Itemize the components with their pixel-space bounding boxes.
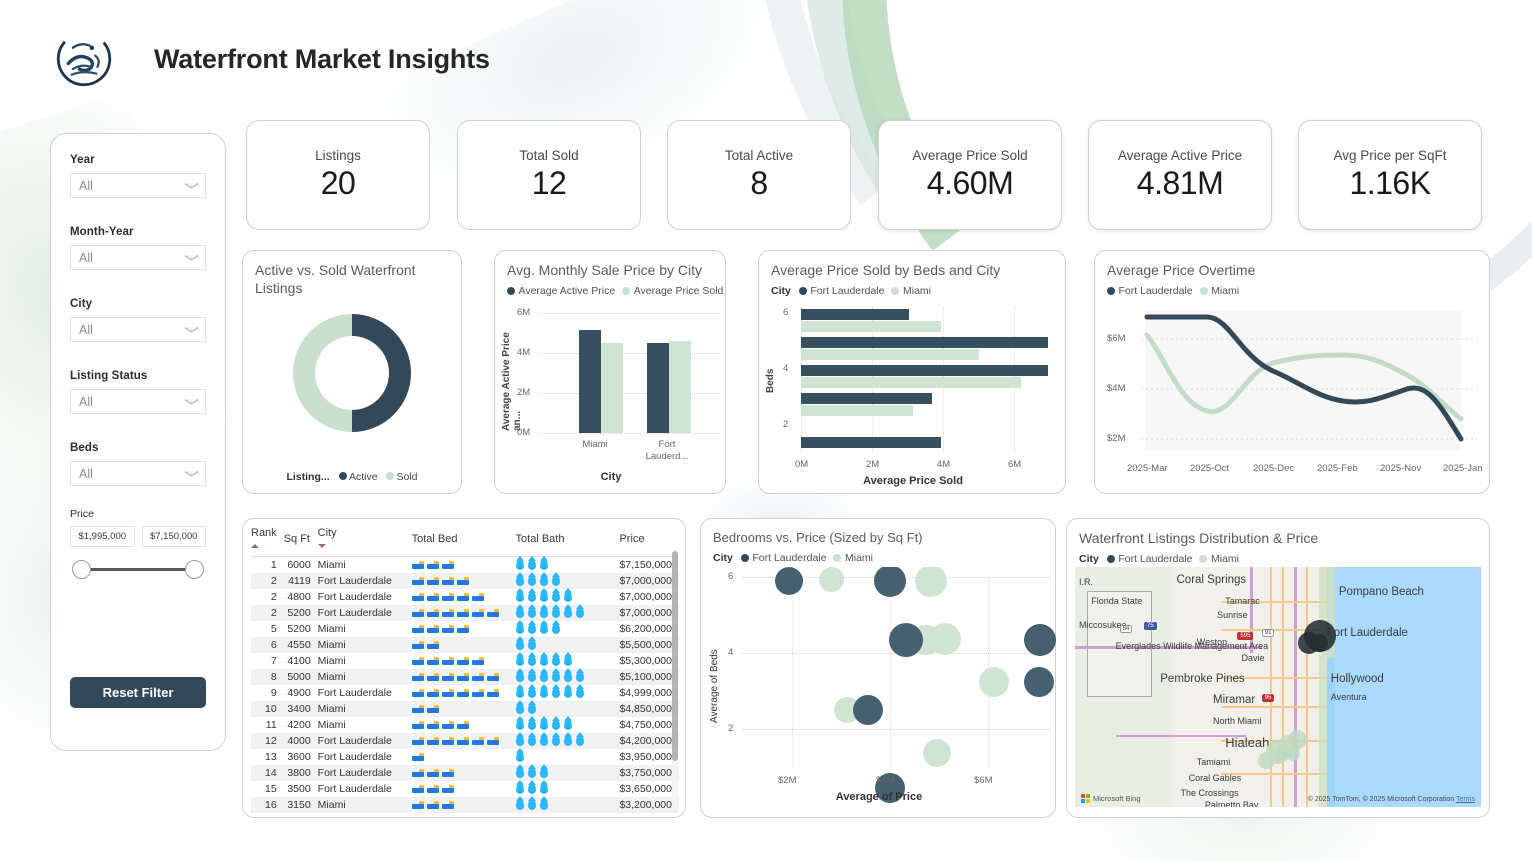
- cell-city: Miami: [318, 717, 412, 733]
- scatter-chart-ylabel: Average of Beds: [709, 613, 720, 723]
- cell-city: Miami: [318, 669, 412, 685]
- bath-drop-icon: [540, 687, 548, 698]
- legend-swatch-ftl-icon: [799, 287, 807, 295]
- cell-price: $4,999,000: [619, 685, 679, 701]
- filter-listing-status[interactable]: Listing Status All: [70, 370, 206, 414]
- cell-rank: 2: [251, 605, 284, 621]
- cell-city: Fort Lauderdale: [318, 589, 412, 605]
- table-row[interactable]: 94900Fort Lauderdale$4,999,000: [251, 685, 679, 701]
- hbar-6-ftl[interactable]: [801, 309, 909, 320]
- map-card[interactable]: Waterfront Listings Distribution & Price…: [1066, 518, 1490, 818]
- table-row[interactable]: 143800Fort Lauderdale$3,750,000: [251, 765, 679, 781]
- bed-icon: [442, 769, 454, 777]
- cell-total-bath: [516, 589, 620, 605]
- bath-drop-icon: [540, 735, 548, 746]
- table-row[interactable]: 24119Fort Lauderdale$7,000,000: [251, 573, 679, 589]
- bath-drop-icon: [552, 671, 560, 682]
- kpi-card-listings[interactable]: Listings 20: [246, 120, 430, 230]
- bed-icon: [427, 577, 439, 585]
- bath-drop-icon: [516, 735, 524, 746]
- bed-icon: [457, 657, 469, 665]
- listings-table-card[interactable]: Rank Sq Ft City Total Bed Total Bath Pri…: [242, 518, 686, 818]
- cell-total-bath: [516, 765, 620, 781]
- legend-swatch-active-price-icon: [507, 287, 515, 295]
- cell-rank: 2: [251, 589, 284, 605]
- map-label-hollywood: Hollywood: [1331, 673, 1384, 685]
- xtick-0m: 0M: [795, 459, 808, 470]
- bath-drop-icon: [516, 671, 524, 682]
- cell-total-bed: [412, 621, 516, 637]
- kpi-title: Avg Price per SqFt: [1333, 148, 1446, 163]
- bath-drop-icon: [564, 591, 572, 602]
- filter-listing-status-value: All: [79, 395, 93, 409]
- hbar-5-miami[interactable]: [801, 349, 979, 360]
- price-max-input[interactable]: $7,150,000: [142, 526, 207, 547]
- cell-rank: 11: [251, 717, 284, 733]
- bed-icon: [412, 705, 424, 713]
- bing-logo-text: Microsoft Bing: [1093, 794, 1141, 803]
- filter-city[interactable]: City All: [70, 298, 206, 342]
- filter-year-label: Year: [70, 154, 206, 166]
- cell-total-bath: [516, 605, 620, 621]
- map-label-coral-springs: Coral Springs: [1177, 574, 1247, 586]
- column-header-price[interactable]: Price: [619, 527, 679, 557]
- bed-icon: [412, 657, 424, 665]
- chevron-down-icon: [185, 182, 198, 190]
- bed-icon: [412, 737, 424, 745]
- map-label-sunrise: Sunrise: [1217, 610, 1248, 620]
- bed-icon: [457, 673, 469, 681]
- hbar-chart-title: Average Price Sold by Beds and City: [759, 251, 1065, 279]
- bed-icon: [472, 657, 484, 665]
- kpi-title: Total Sold: [519, 148, 578, 163]
- table-scrollbar[interactable]: [672, 549, 678, 805]
- cell-price: $5,300,000: [619, 653, 679, 669]
- bed-icon: [457, 577, 469, 585]
- bath-drop-icon: [516, 687, 524, 698]
- ytick-6: 6: [728, 571, 733, 582]
- filter-listing-status-label: Listing Status: [70, 370, 206, 382]
- cell-city: Fort Lauderdale: [318, 781, 412, 797]
- cell-total-bath: [516, 637, 620, 653]
- cell-city: Fort Lauderdale: [318, 733, 412, 749]
- cell-total-bath: [516, 685, 620, 701]
- table-row[interactable]: 114200Miami$4,750,000: [251, 717, 679, 733]
- kpi-title: Average Active Price: [1118, 148, 1242, 163]
- bubble-ftl-3[interactable]: [889, 623, 923, 657]
- column-header-total-bath[interactable]: Total Bath: [516, 527, 620, 557]
- bed-icon: [427, 705, 439, 713]
- reset-filter-button[interactable]: Reset Filter: [70, 677, 206, 708]
- sort-asc-icon: [251, 544, 259, 548]
- bed-icon: [427, 561, 439, 569]
- cell-sqft: 4800: [284, 589, 318, 605]
- kpi-card-total-active[interactable]: Total Active 8: [667, 120, 851, 230]
- donut-chart-title: Active vs. Sold Waterfront Listings: [243, 251, 461, 298]
- bed-icon: [412, 721, 424, 729]
- bar-ftl-sold[interactable]: [669, 341, 691, 433]
- bed-icon: [442, 577, 454, 585]
- cell-sqft: 4000: [284, 733, 318, 749]
- cell-total-bath: [516, 701, 620, 717]
- bath-drop-icon: [516, 623, 524, 634]
- table-row[interactable]: 24800Fort Lauderdale$7,000,000: [251, 589, 679, 605]
- cell-sqft: 6000: [284, 557, 318, 573]
- ytick-4m: 4M: [517, 347, 530, 358]
- cell-total-bed: [412, 557, 516, 573]
- map-label-pompano-beach: Pompano Beach: [1339, 586, 1424, 598]
- bubble-miami-1[interactable]: [819, 567, 844, 592]
- bed-icon: [412, 625, 424, 633]
- filter-month-year-value: All: [79, 251, 93, 265]
- xtick-3: 2025-Feb: [1317, 463, 1358, 474]
- bed-icon: [412, 577, 424, 585]
- price-min-input[interactable]: $1,995,000: [70, 526, 135, 547]
- bath-drop-icon: [528, 799, 536, 810]
- bath-drop-icon: [540, 575, 548, 586]
- cell-rank: 9: [251, 685, 284, 701]
- table-row[interactable]: 133600Fort Lauderdale$3,950,000: [251, 749, 679, 765]
- cell-total-bath: [516, 557, 620, 573]
- cell-price: $5,500,000: [619, 637, 679, 653]
- cell-total-bath: [516, 749, 620, 765]
- bed-icon: [487, 737, 499, 745]
- bubble-miami-2[interactable]: [915, 567, 947, 597]
- filter-year[interactable]: Year All: [70, 154, 206, 198]
- cell-city: Fort Lauderdale: [318, 749, 412, 765]
- cell-total-bath: [516, 621, 620, 637]
- bed-icon: [427, 721, 439, 729]
- bath-drop-icon: [516, 575, 524, 586]
- bath-drop-icon: [540, 623, 548, 634]
- xtick-1: 2025-Oct: [1190, 463, 1229, 474]
- map-label-coral-gables: Coral Gables: [1189, 773, 1242, 783]
- kpi-value: 20: [321, 165, 356, 202]
- cell-price: $3,200,000: [619, 797, 679, 813]
- cell-sqft: 4100: [284, 653, 318, 669]
- cell-price: $7,000,000: [619, 605, 679, 621]
- scatter-chart-card[interactable]: Bedrooms vs. Price (Sized by Sq Ft) City…: [700, 518, 1056, 818]
- scatter-legend-head: City: [713, 552, 733, 564]
- cell-total-bath: [516, 797, 620, 813]
- column-header-total-bed[interactable]: Total Bed: [412, 527, 516, 557]
- hbar-3-ftl[interactable]: [801, 393, 932, 404]
- bath-drop-icon: [564, 607, 572, 618]
- filter-year-dropdown[interactable]: All: [70, 173, 206, 198]
- bed-icon: [427, 673, 439, 681]
- dashboard-header: Waterfront Market Insights: [0, 0, 1532, 118]
- cell-total-bath: [516, 653, 620, 669]
- column-header-city[interactable]: City: [318, 527, 412, 557]
- cell-total-bath: [516, 717, 620, 733]
- scatter-chart-xlabel: Average of Price: [701, 791, 1057, 803]
- xtick-miami: Miami: [573, 439, 617, 450]
- column-header-sqft[interactable]: Sq Ft: [284, 527, 318, 557]
- cell-city: Miami: [318, 701, 412, 717]
- cell-total-bath: [516, 781, 620, 797]
- bath-drop-icon: [528, 639, 536, 650]
- bath-drop-icon: [540, 719, 548, 730]
- donut-legend-active: Active: [349, 471, 378, 483]
- cell-total-bed: [412, 573, 516, 589]
- cell-price: $6,200,000: [619, 621, 679, 637]
- table-row[interactable]: 64550Miami$5,500,000: [251, 637, 679, 653]
- kpi-card-average-active-price[interactable]: Average Active Price 4.81M: [1088, 120, 1272, 230]
- bed-icon: [442, 737, 454, 745]
- listings-table[interactable]: Rank Sq Ft City Total Bed Total Bath Pri…: [251, 527, 679, 813]
- hbar-3-miami[interactable]: [801, 405, 913, 416]
- map-label-hialeah: Hialeah: [1225, 735, 1269, 750]
- filter-month-year-dropdown[interactable]: All: [70, 245, 206, 270]
- sort-desc-icon: [318, 544, 326, 548]
- cell-total-bed: [412, 765, 516, 781]
- bath-drop-icon: [564, 719, 572, 730]
- bed-icon: [442, 721, 454, 729]
- kpi-value: 1.16K: [1349, 165, 1430, 202]
- column-chart-plot: Average Active Price an... 6M 4M 2M 0M M…: [495, 305, 727, 495]
- bed-icon: [442, 801, 454, 809]
- table-row[interactable]: 74100Miami$5,300,000: [251, 653, 679, 669]
- xtick-2: 2025-Dec: [1253, 463, 1294, 474]
- legend-swatch-active-icon: [339, 472, 347, 480]
- kpi-title: Average Price Sold: [912, 148, 1027, 163]
- chevron-down-icon: [185, 398, 198, 406]
- bath-drop-icon: [552, 719, 560, 730]
- filter-beds[interactable]: Beds All: [70, 442, 206, 486]
- filter-beds-dropdown[interactable]: All: [70, 461, 206, 486]
- donut-chart-graphic[interactable]: [293, 314, 411, 432]
- hbar-4-ftl[interactable]: [801, 365, 1048, 376]
- cell-price: $4,850,000: [619, 701, 679, 717]
- map-label-palmetto-bay: Palmetto Bay: [1205, 800, 1259, 807]
- bed-icon: [472, 673, 484, 681]
- donut-chart-card[interactable]: Active vs. Sold Waterfront Listings List…: [242, 250, 462, 494]
- cell-sqft: 3800: [284, 765, 318, 781]
- bed-icon: [412, 753, 424, 761]
- cell-price: $4,750,000: [619, 717, 679, 733]
- chevron-down-icon: [185, 254, 198, 262]
- bed-icon: [442, 561, 454, 569]
- bath-drop-icon: [516, 751, 524, 762]
- table-row[interactable]: 25200Fort Lauderdale$7,000,000: [251, 605, 679, 621]
- cell-rank: 6: [251, 637, 284, 653]
- map-bubble-miami-6[interactable]: [1286, 747, 1300, 761]
- cell-city: Miami: [318, 621, 412, 637]
- bed-icon: [442, 673, 454, 681]
- xtick-4m: $4M: [876, 775, 894, 786]
- hbar-5-ftl[interactable]: [801, 337, 1048, 348]
- xtick-2m: 2M: [866, 459, 879, 470]
- table-row[interactable]: 103400Miami$4,850,000: [251, 701, 679, 717]
- bed-icon: [442, 689, 454, 697]
- chevron-down-icon: [185, 326, 198, 334]
- route-shield-75: 75: [1144, 622, 1157, 630]
- cell-total-bed: [412, 589, 516, 605]
- bath-drop-icon: [516, 719, 524, 730]
- cell-rank: 14: [251, 765, 284, 781]
- bed-icon: [457, 737, 469, 745]
- slider-handle-max[interactable]: [185, 560, 204, 579]
- map-label-north-miami: North Miami: [1213, 716, 1262, 726]
- bath-drop-icon: [516, 703, 524, 714]
- slider-handle-min[interactable]: [72, 560, 91, 579]
- price-range-slider[interactable]: [70, 554, 206, 584]
- cell-sqft: 3400: [284, 701, 318, 717]
- bed-icon: [427, 593, 439, 601]
- cell-total-bath: [516, 573, 620, 589]
- table-row[interactable]: 163150Miami$3,200,000: [251, 797, 679, 813]
- cell-rank: 15: [251, 781, 284, 797]
- bubble-ftl-6[interactable]: [853, 695, 883, 725]
- legend-swatch-miami-icon: [833, 554, 841, 562]
- table-row[interactable]: 124000Fort Lauderdale$4,200,000: [251, 733, 679, 749]
- bed-icon: [427, 641, 439, 649]
- bubble-ftl-2[interactable]: [874, 567, 906, 597]
- cell-price: $7,000,000: [619, 589, 679, 605]
- cell-city: Miami: [318, 653, 412, 669]
- filter-city-value: All: [79, 323, 93, 337]
- bath-drop-icon: [528, 735, 536, 746]
- column-legend-1: Average Price Sold: [634, 285, 724, 297]
- bed-icon: [457, 721, 469, 729]
- column-chart-xlabel: City: [495, 471, 727, 483]
- map-label-tamiami: Tamiami: [1197, 757, 1231, 767]
- cell-sqft: 3600: [284, 749, 318, 765]
- cell-sqft: 3500: [284, 781, 318, 797]
- cell-total-bed: [412, 701, 516, 717]
- cell-city: Fort Lauderdale: [318, 605, 412, 621]
- cell-city: Miami: [318, 637, 412, 653]
- line-chart-card[interactable]: Average Price Overtime Fort Lauderdale M…: [1094, 250, 1490, 494]
- scatter-chart-title: Bedrooms vs. Price (Sized by Sq Ft): [701, 519, 1055, 546]
- bath-drop-icon: [552, 655, 560, 666]
- hbar-legend-head: City: [771, 285, 791, 297]
- xtick-fort-lauderdale: Fort Lauderd...: [639, 439, 695, 463]
- bath-drop-icon: [576, 607, 584, 618]
- cell-price: $7,000,000: [619, 573, 679, 589]
- bed-icon: [412, 609, 424, 617]
- cell-sqft: 4200: [284, 717, 318, 733]
- map-label-pembroke-pines: Pembroke Pines: [1160, 673, 1244, 685]
- route-shield-95: 95: [1262, 694, 1275, 702]
- line-chart-title: Average Price Overtime: [1095, 251, 1489, 279]
- bath-drop-icon: [528, 607, 536, 618]
- bed-icon: [412, 801, 424, 809]
- legend-swatch-ftl-icon: [1107, 287, 1115, 295]
- map-bubble-miami-4[interactable]: [1258, 752, 1275, 769]
- column-chart-card[interactable]: Avg. Monthly Sale Price by City Average …: [494, 250, 726, 494]
- filter-month-year[interactable]: Month-Year All: [70, 226, 206, 270]
- kpi-value: 12: [532, 165, 567, 202]
- filter-city-dropdown[interactable]: All: [70, 317, 206, 342]
- table-scrollbar-thumb[interactable]: [672, 551, 678, 761]
- map-legend-head: City: [1079, 553, 1099, 565]
- legend-swatch-ftl-icon: [1107, 555, 1115, 563]
- bed-icon: [427, 657, 439, 665]
- ytick-6: 6: [783, 307, 788, 318]
- bar-ftl-active[interactable]: [647, 343, 669, 433]
- bath-drop-icon: [552, 575, 560, 586]
- table-row[interactable]: 55200Miami$6,200,000: [251, 621, 679, 637]
- cell-sqft: 4119: [284, 573, 318, 589]
- cell-total-bed: [412, 685, 516, 701]
- cell-city: Fort Lauderdale: [318, 685, 412, 701]
- kpi-card-total-sold[interactable]: Total Sold 12: [457, 120, 641, 230]
- bed-icon: [412, 561, 424, 569]
- cell-total-bed: [412, 637, 516, 653]
- cell-rank: 8: [251, 669, 284, 685]
- bed-icon: [442, 609, 454, 617]
- kpi-card-average-price-sold[interactable]: Average Price Sold 4.60M: [878, 120, 1062, 230]
- bath-drop-icon: [540, 655, 548, 666]
- map-label-davie: Davie: [1241, 653, 1264, 663]
- cell-sqft: 3150: [284, 797, 318, 813]
- table-row[interactable]: 85000Miami$5,100,000: [251, 669, 679, 685]
- cell-sqft: 4550: [284, 637, 318, 653]
- filter-city-label: City: [70, 298, 206, 310]
- map-legend-1: Miami: [1211, 553, 1239, 565]
- bubble-miami-7[interactable]: [923, 739, 951, 767]
- bath-drop-icon: [516, 591, 524, 602]
- kpi-card-avg-price-per-sqft[interactable]: Avg Price per SqFt 1.16K: [1298, 120, 1482, 230]
- bath-drop-icon: [516, 767, 524, 778]
- map-terms-link[interactable]: Terms: [1456, 796, 1475, 803]
- bath-drop-icon: [540, 767, 548, 778]
- hbar-chart-card[interactable]: Average Price Sold by Beds and City City…: [758, 250, 1066, 494]
- column-chart-legend: Average Active Price Average Price Sold: [495, 279, 725, 297]
- bed-icon: [487, 689, 499, 697]
- cell-rank: 2: [251, 573, 284, 589]
- bubble-ftl-4[interactable]: [1024, 624, 1056, 656]
- bed-icon: [412, 769, 424, 777]
- ytick-4: 4: [783, 363, 788, 374]
- bed-icon: [442, 785, 454, 793]
- map-legend: City Fort Lauderdale Miami: [1067, 547, 1489, 565]
- legend-swatch-miami-icon: [891, 287, 899, 295]
- bath-drop-icon: [552, 623, 560, 634]
- bar-miami-active[interactable]: [579, 330, 601, 433]
- filter-listing-status-dropdown[interactable]: All: [70, 389, 206, 414]
- bed-icon: [412, 689, 424, 697]
- scatter-chart-plot: Average of Beds 6 4 2: [701, 567, 1057, 819]
- map-canvas[interactable]: I.R. Florida State Miccosukee Coral Spri…: [1075, 567, 1481, 807]
- bath-drop-icon: [516, 607, 524, 618]
- legend-swatch-sold-icon: [386, 472, 394, 480]
- bing-logo: Microsoft Bing: [1081, 794, 1141, 803]
- donut-legend-head: Listing...: [286, 471, 329, 483]
- ytick-2m: 2M: [517, 387, 530, 398]
- bed-icon: [442, 593, 454, 601]
- bubble-miami-4[interactable]: [929, 623, 961, 655]
- hbar-4-miami[interactable]: [801, 377, 1021, 388]
- bath-drop-icon: [564, 687, 572, 698]
- column-header-rank[interactable]: Rank: [251, 527, 284, 557]
- hbar-1-ftl[interactable]: [801, 437, 941, 448]
- bath-drop-icon: [528, 591, 536, 602]
- bar-miami-sold[interactable]: [601, 343, 623, 433]
- filter-beds-value: All: [79, 467, 93, 481]
- filter-month-year-label: Month-Year: [70, 226, 206, 238]
- bubble-miami-5[interactable]: [979, 667, 1009, 697]
- bubble-ftl-5[interactable]: [1024, 667, 1054, 697]
- hbar-6-miami[interactable]: [801, 321, 941, 332]
- line-chart-plot: $6M $4M $2M 2025-Mar 2025-Oct 2025-Dec 2…: [1095, 301, 1491, 495]
- legend-swatch-price-sold-icon: [622, 287, 630, 295]
- table-row[interactable]: 16000Miami$7,150,000: [251, 557, 679, 573]
- table-row[interactable]: 153500Fort Lauderdale$3,650,000: [251, 781, 679, 797]
- bubble-ftl-1[interactable]: [775, 567, 803, 595]
- bath-drop-icon: [528, 783, 536, 794]
